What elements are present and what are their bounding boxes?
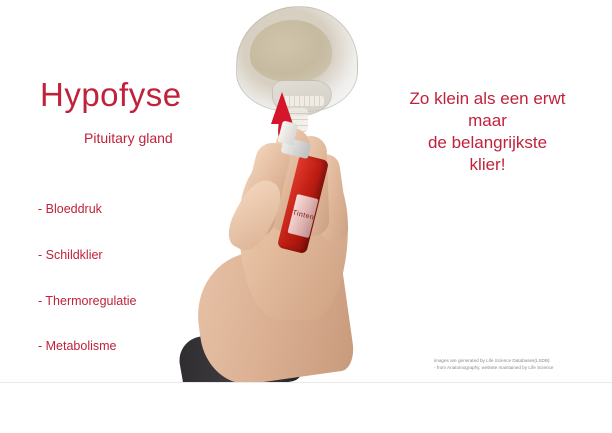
- brain-shape: [250, 20, 332, 82]
- list-item: - Bloeddruk: [38, 202, 183, 217]
- image-credit: images are generated by Life Science Dat…: [434, 358, 604, 371]
- list-item: - Thermoregulatie: [38, 294, 183, 309]
- credit-line-2: - from Anatomography, website maintained…: [434, 365, 604, 372]
- page-title: Hypofyse: [40, 76, 182, 114]
- hand-with-marker-photo: Tinten: [196, 0, 436, 380]
- poster-image: Hypofyse Pituitary gland - Bloeddruk - S…: [0, 0, 612, 433]
- list-item: - Metabolisme: [38, 339, 183, 354]
- list-item: - Schildklier: [38, 248, 183, 263]
- page-subtitle: Pituitary gland: [84, 130, 173, 146]
- footer-bar: Hersenletsel-uitleg www.hersenletsel-uit…: [0, 382, 612, 433]
